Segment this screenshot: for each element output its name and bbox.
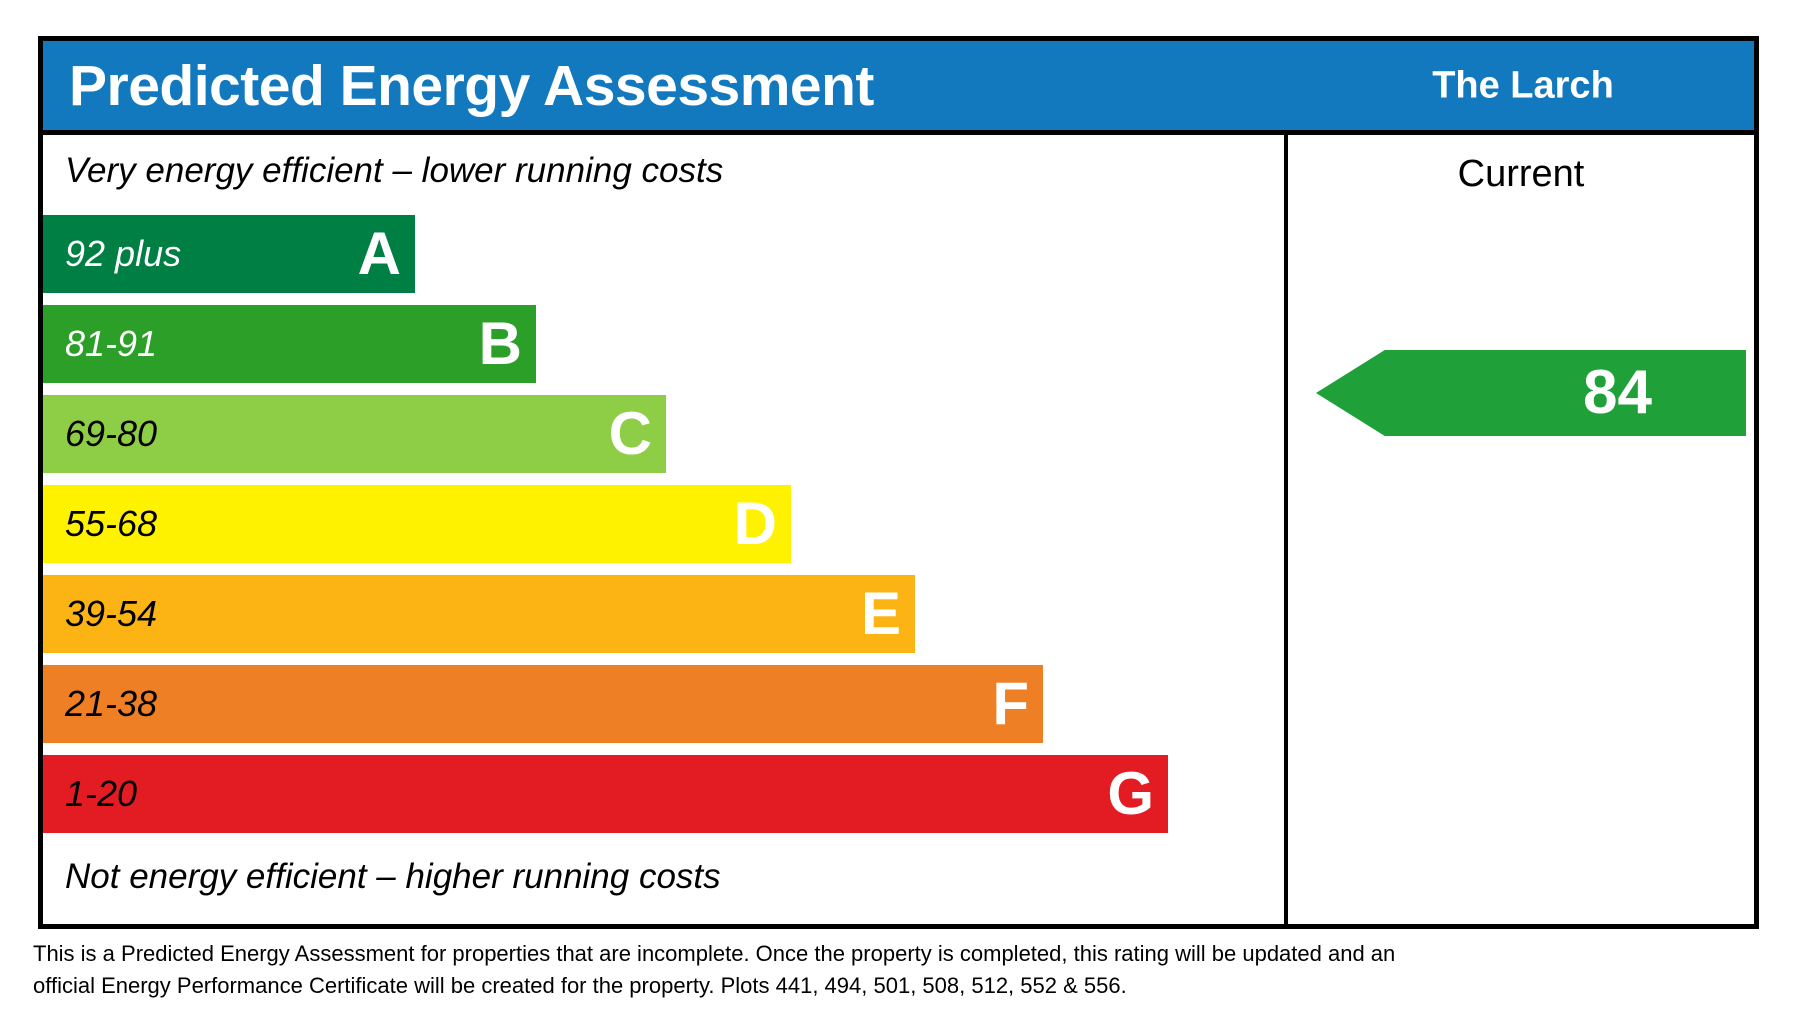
band-row-f: 21-38 F: [43, 665, 1043, 743]
band-letter-e: E: [861, 584, 901, 644]
band-letter-a: A: [358, 224, 401, 284]
certificate-body: Very energy efficient – lower running co…: [43, 135, 1754, 924]
certificate-frame: Predicted Energy Assessment The Larch Ve…: [38, 36, 1759, 929]
band-range-d: 55-68: [65, 503, 157, 545]
arrow-shape-icon: [1316, 350, 1746, 436]
property-address: The Larch: [1288, 64, 1758, 107]
band-range-c: 69-80: [65, 413, 157, 455]
band-row-d: 55-68 D: [43, 485, 791, 563]
band-row-b: 81-91 B: [43, 305, 536, 383]
disclaimer-text: This is a Predicted Energy Assessment fo…: [33, 938, 1533, 1002]
disclaimer-line-2: official Energy Performance Certificate …: [33, 970, 1533, 1002]
bottom-caption: Not energy efficient – higher running co…: [65, 857, 721, 897]
current-rating-value: 84: [1583, 362, 1652, 424]
band-letter-b: B: [479, 314, 522, 374]
disclaimer-line-1: This is a Predicted Energy Assessment fo…: [33, 938, 1533, 970]
certificate-header: Predicted Energy Assessment The Larch: [43, 41, 1754, 135]
band-letter-g: G: [1107, 764, 1154, 824]
band-letter-f: F: [992, 674, 1029, 734]
current-column-header: Current: [1288, 153, 1754, 196]
band-range-b: 81-91: [65, 323, 157, 365]
band-range-a: 92 plus: [65, 233, 181, 275]
energy-certificate-page: Predicted Energy Assessment The Larch Ve…: [0, 0, 1800, 1012]
band-row-a: 92 plus A: [43, 215, 415, 293]
band-row-c: 69-80 C: [43, 395, 666, 473]
band-row-g: 1-20 G: [43, 755, 1168, 833]
band-range-f: 21-38: [65, 683, 157, 725]
band-letter-c: C: [609, 404, 652, 464]
band-range-e: 39-54: [65, 593, 157, 635]
current-rating-column: Current 84: [1288, 135, 1754, 924]
band-letter-d: D: [734, 494, 777, 554]
band-range-g: 1-20: [65, 773, 137, 815]
band-row-e: 39-54 E: [43, 575, 915, 653]
top-caption: Very energy efficient – lower running co…: [65, 151, 723, 191]
page-title: Predicted Energy Assessment: [69, 53, 874, 119]
current-rating-arrow: 84: [1316, 350, 1746, 436]
